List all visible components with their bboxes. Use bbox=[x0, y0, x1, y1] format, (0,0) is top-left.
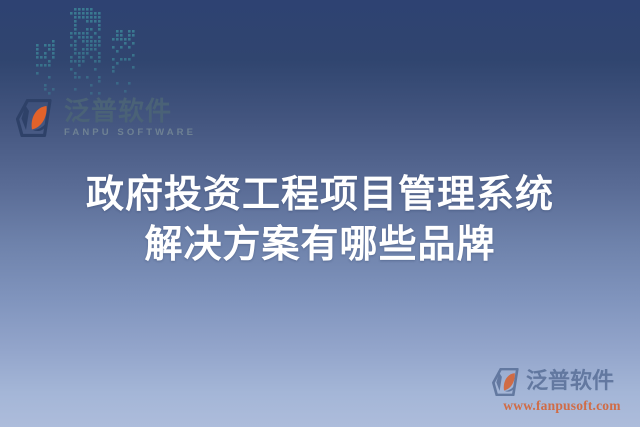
brand-logo-wordmark: 泛普软件 FANPU SOFTWARE bbox=[64, 99, 196, 138]
brand-name-en: FANPU SOFTWARE bbox=[64, 128, 196, 138]
pixel-buildings-icon bbox=[34, 0, 140, 96]
page-title-line-1: 政府投资工程项目管理系统 bbox=[0, 169, 640, 219]
fanpu-hexagon-logo-icon bbox=[492, 368, 522, 396]
page-title-line-2: 解决方案有哪些品牌 bbox=[0, 219, 640, 269]
watermark-url: www.fanpusoft.com bbox=[492, 398, 632, 414]
watermark-brand-name: 泛普软件 bbox=[526, 371, 614, 393]
page-title: 政府投资工程项目管理系统 解决方案有哪些品牌 bbox=[0, 169, 640, 269]
fanpu-hexagon-logo-icon bbox=[16, 99, 56, 137]
promo-banner: 泛普软件 FANPU SOFTWARE 政府投资工程项目管理系统 解决方案有哪些… bbox=[0, 0, 640, 427]
watermark: 泛普软件 www.fanpusoft.com bbox=[492, 368, 632, 414]
watermark-logo: 泛普软件 bbox=[492, 368, 632, 396]
brand-logo: 泛普软件 FANPU SOFTWARE bbox=[16, 99, 196, 138]
brand-name-cn: 泛普软件 bbox=[64, 99, 196, 125]
